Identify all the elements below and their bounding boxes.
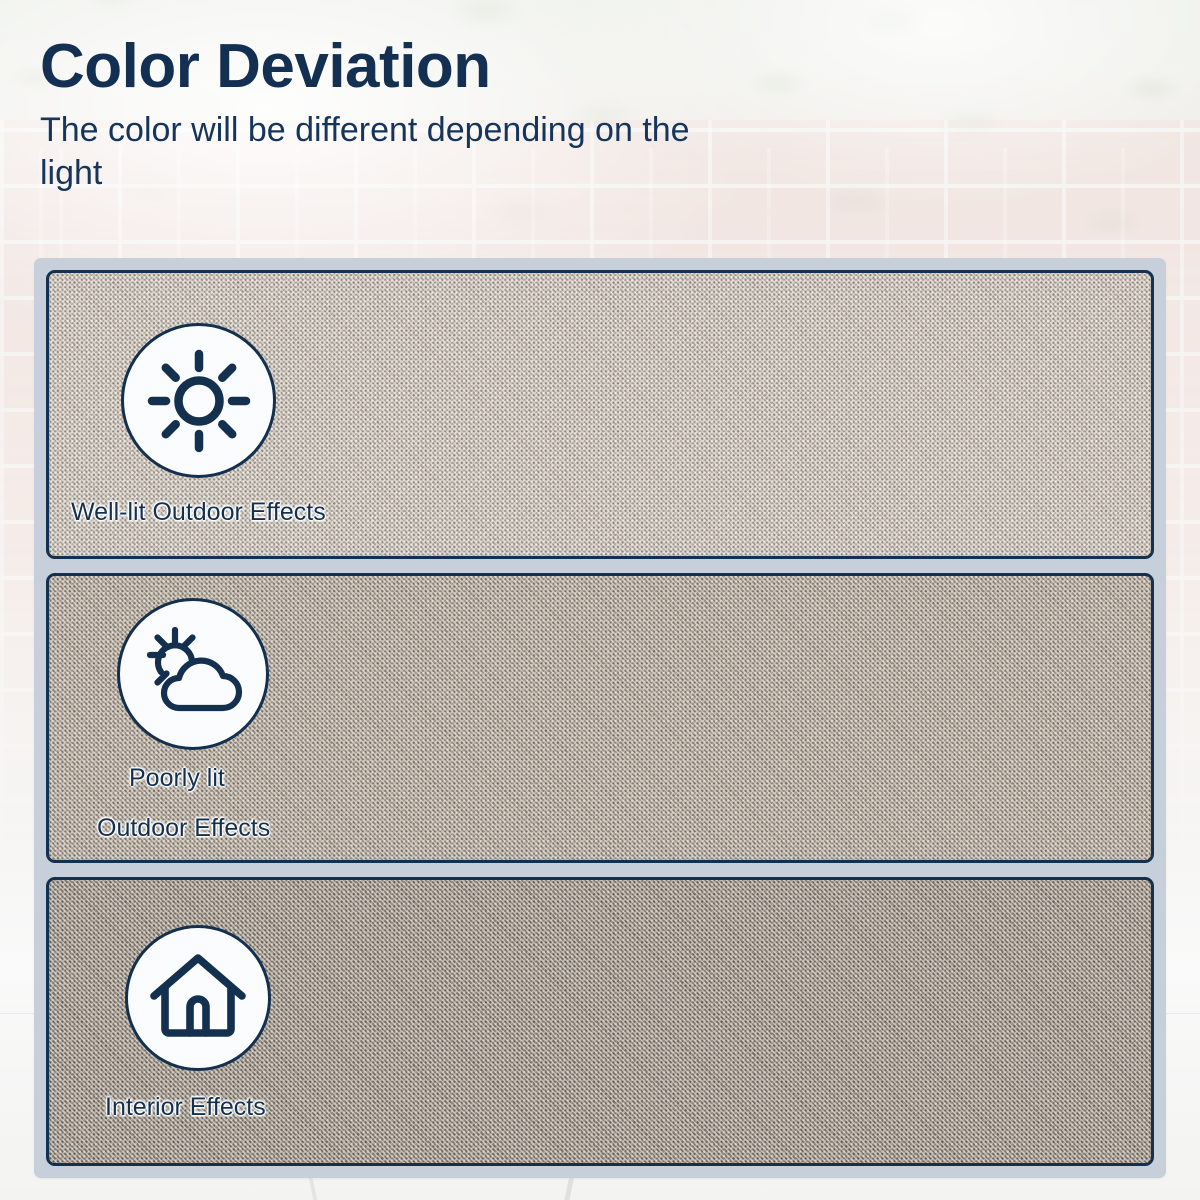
sun-icon	[121, 323, 276, 478]
swatch-panel-group: Well-lit Outdoor Effects Poorly	[34, 258, 1166, 1178]
sun-behind-cloud-icon	[117, 598, 269, 750]
swatch-panel-well-lit-outdoor[interactable]: Well-lit Outdoor Effects	[46, 270, 1154, 559]
page-title: Color Deviation	[40, 34, 760, 100]
swatch-panel-interior[interactable]: Interior Effects	[46, 877, 1154, 1166]
swatch-caption-interior: Interior Effects	[105, 1090, 266, 1125]
swatch-caption-poorly-lit-line1: Poorly lit	[129, 761, 225, 796]
swatch-panel-poorly-lit-outdoor[interactable]: Poorly lit Outdoor Effects	[46, 573, 1154, 862]
heading-block: Color Deviation The color will be differ…	[40, 34, 760, 196]
swatch-caption-poorly-lit-line2: Outdoor Effects	[97, 811, 270, 846]
house-icon	[125, 925, 271, 1071]
swatch-caption-well-lit: Well-lit Outdoor Effects	[71, 495, 326, 530]
page-subtitle: The color will be different depending on…	[40, 109, 700, 196]
